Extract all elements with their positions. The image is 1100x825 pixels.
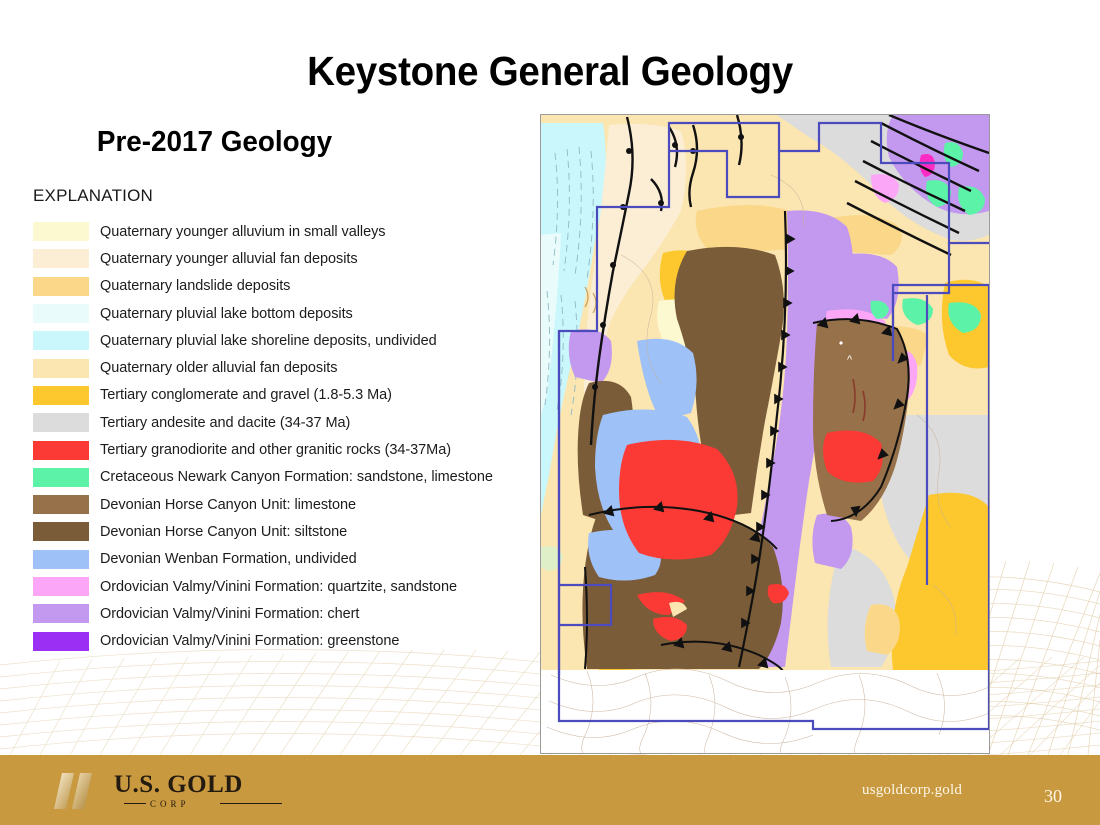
legend-item-label: Quaternary older alluvial fan deposits <box>100 360 338 376</box>
geologic-map-container[interactable]: ^ <box>540 114 990 754</box>
legend-item-label: Ordovician Valmy/Vinini Formation: quart… <box>100 579 457 595</box>
legend-color-swatch <box>33 550 89 569</box>
legend-color-swatch <box>33 304 89 323</box>
slide-subtitle: Pre-2017 Geology <box>97 126 332 159</box>
legend-row: Devonian Horse Canyon Unit: limestone <box>33 491 533 518</box>
svg-text:^: ^ <box>847 354 853 366</box>
legend-row: Ordovician Valmy/Vinini Formation: quart… <box>33 573 533 600</box>
legend-item-label: Quaternary landslide deposits <box>100 278 290 294</box>
legend-color-swatch <box>33 386 89 405</box>
legend-color-swatch <box>33 632 89 651</box>
legend-heading: EXPLANATION <box>33 186 153 206</box>
legend-row: Devonian Horse Canyon Unit: siltstone <box>33 518 533 545</box>
legend-row: Quaternary pluvial lake bottom deposits <box>33 300 533 327</box>
legend-row: Tertiary granodiorite and other granitic… <box>33 436 533 463</box>
legend-row: Quaternary younger alluvial fan deposits <box>33 245 533 272</box>
legend-row: Cretaceous Newark Canyon Formation: sand… <box>33 464 533 491</box>
legend-color-swatch <box>33 468 89 487</box>
legend-color-swatch <box>33 441 89 460</box>
slide-title: Keystone General Geology <box>33 48 1067 95</box>
slide-canvas: Keystone General Geology Pre-2017 Geolog… <box>0 0 1100 825</box>
legend-item-label: Tertiary andesite and dacite (34-37 Ma) <box>100 415 350 431</box>
geology-legend: Quaternary younger alluvium in small val… <box>33 218 533 655</box>
page-number: 30 <box>1044 786 1062 807</box>
logo-bars-icon <box>52 771 110 811</box>
logo-company-suffix: CORP <box>150 799 190 809</box>
legend-row: Quaternary pluvial lake shoreline deposi… <box>33 327 533 354</box>
legend-item-label: Quaternary pluvial lake shoreline deposi… <box>100 333 437 349</box>
legend-item-label: Quaternary pluvial lake bottom deposits <box>100 306 353 322</box>
geologic-map: ^ <box>541 115 989 753</box>
legend-item-label: Cretaceous Newark Canyon Formation: sand… <box>100 469 493 485</box>
legend-item-label: Devonian Wenban Formation, undivided <box>100 551 357 567</box>
legend-color-swatch <box>33 249 89 268</box>
legend-color-swatch <box>33 522 89 541</box>
legend-item-label: Ordovician Valmy/Vinini Formation: chert <box>100 606 359 622</box>
legend-row: Quaternary landslide deposits <box>33 273 533 300</box>
legend-color-swatch <box>33 495 89 514</box>
legend-row: Ordovician Valmy/Vinini Formation: green… <box>33 627 533 654</box>
legend-row: Ordovician Valmy/Vinini Formation: chert <box>33 600 533 627</box>
legend-row: Tertiary conglomerate and gravel (1.8-5.… <box>33 382 533 409</box>
company-logo: U.S. GOLD CORP <box>52 769 292 813</box>
legend-item-label: Devonian Horse Canyon Unit: limestone <box>100 497 356 513</box>
legend-item-label: Quaternary younger alluvial fan deposits <box>100 251 358 267</box>
legend-row: Quaternary younger alluvium in small val… <box>33 218 533 245</box>
logo-rule-right <box>220 803 282 804</box>
legend-row: Devonian Wenban Formation, undivided <box>33 546 533 573</box>
legend-color-swatch <box>33 222 89 241</box>
legend-item-label: Tertiary conglomerate and gravel (1.8-5.… <box>100 387 392 403</box>
legend-color-swatch <box>33 277 89 296</box>
legend-item-label: Quaternary younger alluvium in small val… <box>100 224 386 240</box>
legend-color-swatch <box>33 331 89 350</box>
legend-item-label: Ordovician Valmy/Vinini Formation: green… <box>100 633 399 649</box>
legend-color-swatch <box>33 604 89 623</box>
logo-company-name: U.S. GOLD <box>114 771 243 799</box>
legend-row: Quaternary older alluvial fan deposits <box>33 354 533 381</box>
legend-color-swatch <box>33 413 89 432</box>
legend-item-label: Tertiary granodiorite and other granitic… <box>100 442 451 458</box>
legend-row: Tertiary andesite and dacite (34-37 Ma) <box>33 409 533 436</box>
footer-website[interactable]: usgoldcorp.gold <box>862 782 962 799</box>
legend-item-label: Devonian Horse Canyon Unit: siltstone <box>100 524 347 540</box>
legend-color-swatch <box>33 577 89 596</box>
legend-color-swatch <box>33 359 89 378</box>
logo-rule-left <box>124 803 146 804</box>
slide-footer: U.S. GOLD CORP usgoldcorp.gold 30 <box>0 755 1100 825</box>
